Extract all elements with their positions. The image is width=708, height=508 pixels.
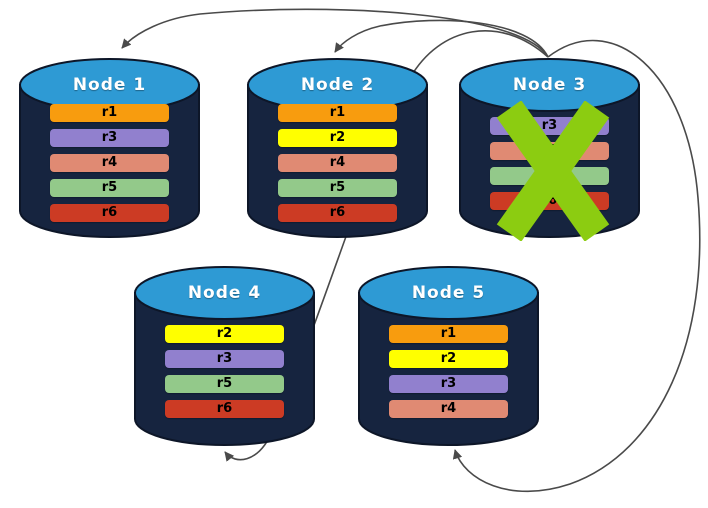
database-node-5[interactable]: Node 5r1r2r3r4 <box>357 265 540 447</box>
cylinder-top-ellipse <box>359 267 538 319</box>
replica-chip[interactable]: r3 <box>389 375 508 393</box>
replica-chip[interactable]: r3 <box>165 350 284 368</box>
replica-list: r1r3r4r5r6 <box>18 104 201 222</box>
replica-list: r2r3r5r6 <box>133 325 316 418</box>
replica-chip[interactable]: r5 <box>490 167 609 185</box>
edge-node3-to-node1 <box>122 9 548 57</box>
database-node-1[interactable]: Node 1r1r3r4r5r6 <box>18 57 201 239</box>
database-node-3[interactable]: Node 3r3r4r5r6 <box>458 57 641 239</box>
replica-chip[interactable]: r2 <box>165 325 284 343</box>
cylinder-top-ellipse <box>460 59 639 111</box>
replica-chip[interactable]: r5 <box>165 375 284 393</box>
replica-chip[interactable]: r4 <box>389 400 508 418</box>
replication-diagram: Node 1r1r3r4r5r6Node 2r1r2r4r5r6Node 3r3… <box>0 0 708 508</box>
database-node-2[interactable]: Node 2r1r2r4r5r6 <box>246 57 429 239</box>
replica-chip[interactable]: r2 <box>278 129 397 147</box>
replica-chip[interactable]: r3 <box>50 129 169 147</box>
replica-chip[interactable]: r6 <box>278 204 397 222</box>
cylinder-top-ellipse <box>135 267 314 319</box>
database-node-4[interactable]: Node 4r2r3r5r6 <box>133 265 316 447</box>
replica-list: r1r2r3r4 <box>357 325 540 418</box>
replica-chip[interactable]: r1 <box>50 104 169 122</box>
replica-chip[interactable]: r6 <box>50 204 169 222</box>
replica-chip[interactable]: r5 <box>278 179 397 197</box>
replica-chip[interactable]: r1 <box>278 104 397 122</box>
replica-list: r1r2r4r5r6 <box>246 104 429 222</box>
replica-chip[interactable]: r6 <box>490 192 609 210</box>
replica-chip[interactable]: r4 <box>50 154 169 172</box>
replica-chip[interactable]: r3 <box>490 117 609 135</box>
replica-list: r3r4r5r6 <box>458 117 641 210</box>
replica-chip[interactable]: r6 <box>165 400 284 418</box>
replica-chip[interactable]: r2 <box>389 350 508 368</box>
edge-node3-to-node2 <box>335 20 548 57</box>
replica-chip[interactable]: r4 <box>490 142 609 160</box>
replica-chip[interactable]: r5 <box>50 179 169 197</box>
replica-chip[interactable]: r4 <box>278 154 397 172</box>
replica-chip[interactable]: r1 <box>389 325 508 343</box>
